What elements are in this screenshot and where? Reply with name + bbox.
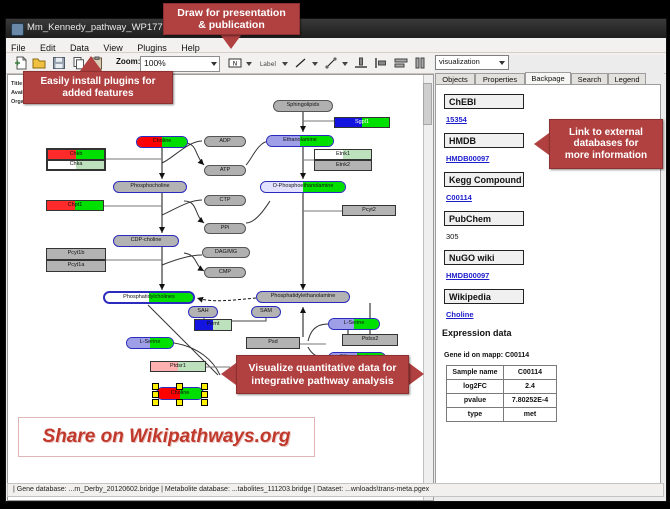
callout-link-external-databases: Link to external databases for more info… — [549, 119, 663, 169]
node-sam[interactable]: SAM — [251, 306, 281, 318]
table-row: Sample name C00114 — [447, 366, 557, 380]
table-row: pvalue 7.80252E-4 — [447, 394, 557, 408]
cell-label: log2FC — [447, 380, 504, 394]
node-pcyt1a[interactable]: Pcyt1a — [46, 260, 106, 272]
node-etnk1[interactable]: Etnk1 — [314, 149, 372, 160]
node-label: Pcyt2 — [362, 208, 376, 214]
node-o-phosphoethanolamine[interactable]: O-Phosphoethanolamine — [260, 181, 346, 193]
datanode-icon[interactable]: N — [228, 56, 242, 70]
svg-text:Label: Label — [260, 61, 277, 68]
node-label: PPi — [221, 226, 230, 232]
nugo-header: NuGO wiki — [444, 250, 524, 265]
node-dag-mg[interactable]: DAG/MG — [202, 247, 250, 258]
callout-line: databases for — [573, 138, 638, 150]
distribute-horizontal-icon[interactable] — [414, 56, 428, 70]
callout-line: Visualize quantitative data for — [248, 362, 396, 374]
node-label: Phosphocholine — [130, 184, 169, 190]
callout-easily-install-plugins: Easily install plugins for added feature… — [23, 71, 173, 104]
node-pcyt1b[interactable]: Pcyt1b — [46, 248, 106, 260]
node-ptdsr1[interactable]: Ptdsr1 — [150, 361, 206, 372]
node-l-serine-left[interactable]: L-Serine — [126, 337, 174, 349]
new-file-icon[interactable] — [14, 56, 28, 70]
node-label: Ethanolamine — [283, 138, 317, 144]
callout-arrow-right — [409, 363, 424, 385]
node-chpt1[interactable]: Chpt1 — [46, 200, 104, 211]
node-phosphatidylethanolamine[interactable]: Phosphatidylethanolamine — [256, 291, 350, 303]
visualization-combo-label: visualization — [439, 57, 480, 66]
chevron-down-icon[interactable] — [211, 62, 217, 66]
distribute-vertical-icon[interactable] — [394, 56, 408, 70]
hmdb-link[interactable]: HMDB00097 — [446, 154, 489, 163]
node-ppi[interactable]: PPi — [204, 223, 246, 234]
node-adp[interactable]: ADP — [204, 136, 246, 147]
cell-label: type — [447, 408, 504, 422]
callout-draw-for-publication: Draw for presentation & publication — [163, 3, 300, 35]
node-label: Choline — [153, 139, 172, 145]
cell-value: C00114 — [504, 366, 557, 380]
cell-value: met — [504, 408, 557, 422]
scrollbar-thumb[interactable] — [423, 83, 432, 125]
node-label: Ptdsr1 — [170, 364, 186, 370]
menu-bar: File Edit Data View Plugins Help — [6, 38, 666, 53]
node-label: Pemt — [207, 322, 220, 328]
zoom-value: 100% — [144, 58, 166, 68]
cell-value: 7.80252E-4 — [504, 394, 557, 408]
align-bottom-icon[interactable] — [354, 56, 368, 70]
selection-handle-s[interactable] — [176, 399, 183, 406]
callout-line: integrative pathway analysis — [251, 375, 393, 387]
datanode-dropdown-chevron-icon[interactable] — [246, 62, 252, 66]
node-chkb[interactable]: Chkb — [46, 148, 106, 159]
node-label: Chka — [70, 162, 83, 168]
wikipedia-link[interactable]: Choline — [446, 310, 474, 319]
share-text: Share on Wikipathways.org — [43, 426, 291, 448]
callout-share-on-wikipathways: Share on Wikipathways.org — [18, 417, 315, 457]
selection-handle-nw[interactable] — [152, 383, 159, 390]
save-icon[interactable] — [52, 56, 66, 70]
node-label: ATP — [220, 168, 230, 174]
screenshot-root: Mm_Kennedy_pathway_WP1771_45176.gpml Fil… — [0, 0, 670, 509]
node-chka[interactable]: Chka — [46, 159, 106, 171]
node-phosphatidylcholines[interactable]: Phosphatidylcholines — [103, 291, 195, 304]
selection-handle-ne[interactable] — [201, 383, 208, 390]
node-choline-top[interactable]: Choline — [136, 136, 188, 148]
node-sphingolipids[interactable]: Sphingolipids — [273, 100, 333, 112]
callout-line: & publication — [198, 19, 265, 31]
node-ethanolamine-top[interactable]: Ethanolamine — [266, 135, 334, 147]
label-dropdown-chevron-icon[interactable] — [282, 62, 288, 66]
pubchem-value: 305 — [446, 232, 459, 241]
node-label: Pcyt1a — [68, 263, 85, 269]
node-psd[interactable]: Psd — [246, 337, 300, 349]
zoom-label: Zoom: — [116, 57, 140, 66]
cell-label: pvalue — [447, 394, 504, 408]
node-label: ADP — [219, 139, 230, 145]
node-ptdss2[interactable]: Ptdss2 — [342, 334, 398, 346]
selection-handle-n[interactable] — [176, 383, 183, 390]
node-label: Etnk1 — [336, 152, 350, 158]
node-label: Sgpl1 — [355, 120, 369, 126]
node-label: DAG/MG — [215, 250, 237, 256]
selection-handle-e[interactable] — [201, 391, 208, 398]
node-l-serine-right[interactable]: L-Serine — [328, 318, 380, 330]
callout-arrow-left — [534, 133, 549, 155]
node-label: Chkb — [70, 152, 83, 158]
expression-data-title: Expression data — [442, 328, 512, 338]
cell-label: Sample name — [447, 366, 504, 380]
node-pcyt2[interactable]: Pcyt2 — [342, 205, 396, 216]
kegg-link[interactable]: C00114 — [446, 193, 472, 202]
cell-value: 2.4 — [504, 380, 557, 394]
node-label: O-Phosphoethanolamine — [273, 184, 334, 190]
node-label: SAM — [260, 309, 272, 315]
gene-id-line: Gene id on mapp: C00114 — [444, 352, 529, 359]
selection-handle-se[interactable] — [201, 399, 208, 406]
node-sah[interactable]: SAH — [188, 306, 218, 318]
selection-handle-sw[interactable] — [152, 399, 159, 406]
node-label: Chpt1 — [68, 203, 83, 209]
status-text: | Gene database: ...m_Derby_20120602.bri… — [13, 486, 429, 493]
node-cdp-choline[interactable]: CDP-choline — [113, 235, 179, 247]
callout-arrow-down — [220, 34, 242, 49]
callout-arrow-up — [80, 56, 102, 71]
chebi-header: ChEBI — [444, 94, 524, 109]
callout-line: added features — [62, 88, 133, 100]
node-label: CTP — [220, 198, 231, 204]
title-bar: Mm_Kennedy_pathway_WP1771_45176.gpml — [6, 19, 666, 38]
node-ctp[interactable]: CTP — [204, 195, 246, 206]
node-sgpl1[interactable]: Sgpl1 — [334, 117, 390, 128]
node-label: CMP — [219, 270, 231, 276]
node-label: L-Serine — [344, 321, 365, 327]
callout-line: Draw for presentation — [177, 7, 286, 19]
app-icon — [11, 23, 24, 36]
node-pemt[interactable]: Pemt — [194, 319, 232, 331]
node-cmp[interactable]: CMP — [204, 267, 246, 278]
node-label: Etnk2 — [336, 163, 350, 169]
chevron-down-icon[interactable] — [499, 61, 505, 65]
chebi-link[interactable]: 15354 — [446, 115, 467, 124]
visualization-combo[interactable]: visualization — [435, 55, 509, 70]
node-label: Choline — [171, 391, 190, 397]
table-row: type met — [447, 408, 557, 422]
node-label: Psd — [268, 340, 277, 346]
canvas-vertical-scrollbar[interactable] — [423, 75, 433, 500]
label-icon[interactable]: Label — [258, 56, 278, 70]
node-label: Ptdss2 — [362, 337, 379, 343]
connector-dropdown-chevron-icon[interactable] — [342, 62, 348, 66]
callout-line: more information — [565, 150, 647, 162]
status-bar: | Gene database: ...m_Derby_20120602.bri… — [7, 483, 664, 497]
line-dropdown-chevron-icon[interactable] — [312, 62, 318, 66]
selection-handle-w[interactable] — [152, 391, 159, 398]
node-atp[interactable]: ATP — [204, 165, 246, 176]
open-folder-icon[interactable] — [32, 56, 46, 70]
node-label: CDP-choline — [131, 238, 162, 244]
wikipedia-header: Wikipedia — [444, 289, 524, 304]
align-left-icon[interactable] — [374, 56, 388, 70]
callout-line: Easily install plugins for — [40, 76, 155, 88]
node-label: Phosphatidylcholines — [123, 295, 175, 301]
node-label: Phosphatidylethanolamine — [271, 294, 336, 300]
node-etnk2[interactable]: Etnk2 — [314, 160, 372, 171]
expression-table: Sample name C00114 log2FC 2.4 pvalue 7.8… — [446, 365, 557, 422]
zoom-combo[interactable]: 100% — [140, 56, 220, 72]
line-icon[interactable] — [294, 56, 308, 70]
node-label: Pcyt1b — [68, 251, 85, 257]
callout-arrow-left-2 — [221, 363, 236, 385]
svg-text:N: N — [233, 61, 238, 68]
node-label: L-Serine — [140, 340, 161, 346]
table-row: log2FC 2.4 — [447, 380, 557, 394]
pubchem-header: PubChem — [444, 211, 524, 226]
node-label: Sphingolipids — [287, 103, 320, 109]
kegg-header: Kegg Compound — [444, 172, 524, 187]
node-phosphocholine[interactable]: Phosphocholine — [113, 181, 187, 193]
callout-line: Link to external — [569, 127, 643, 139]
hmdb-header: HMDB — [444, 133, 524, 148]
callout-visualize-quantitative-data: Visualize quantitative data for integrat… — [236, 355, 409, 394]
node-label: SAH — [197, 309, 208, 315]
connector-icon[interactable] — [324, 56, 338, 70]
nugo-link[interactable]: HMDB00097 — [446, 271, 489, 280]
